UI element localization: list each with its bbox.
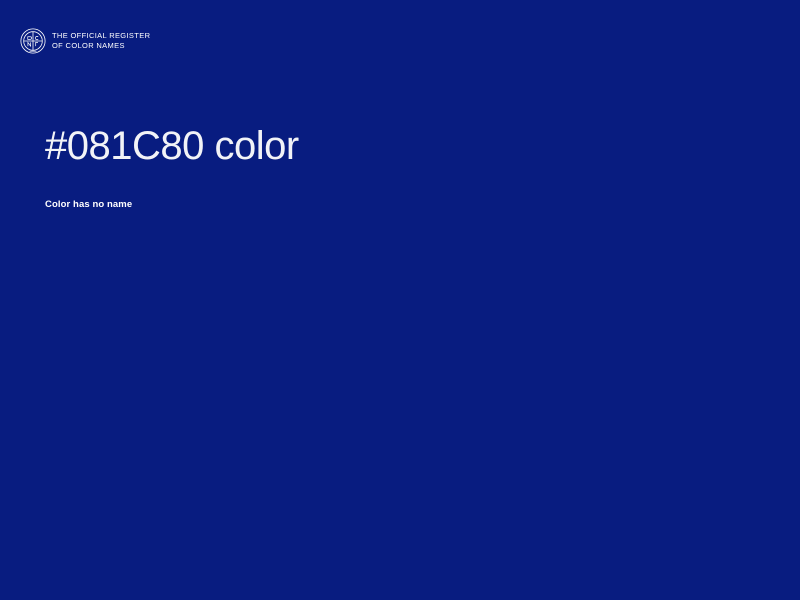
official-register-seal-icon	[20, 28, 46, 54]
brand-header[interactable]: THE OFFICIAL REGISTER OF COLOR NAMES	[20, 28, 150, 54]
brand-wordmark: THE OFFICIAL REGISTER OF COLOR NAMES	[52, 31, 150, 51]
brand-line-1: THE OFFICIAL REGISTER	[52, 31, 150, 41]
color-detail-section: #081C80 color Color has no name	[45, 120, 755, 212]
color-name-status: Color has no name	[45, 172, 755, 212]
page-title: #081C80 color	[45, 120, 755, 172]
color-page: THE OFFICIAL REGISTER OF COLOR NAMES #08…	[0, 0, 800, 600]
brand-line-2: OF COLOR NAMES	[52, 41, 150, 51]
